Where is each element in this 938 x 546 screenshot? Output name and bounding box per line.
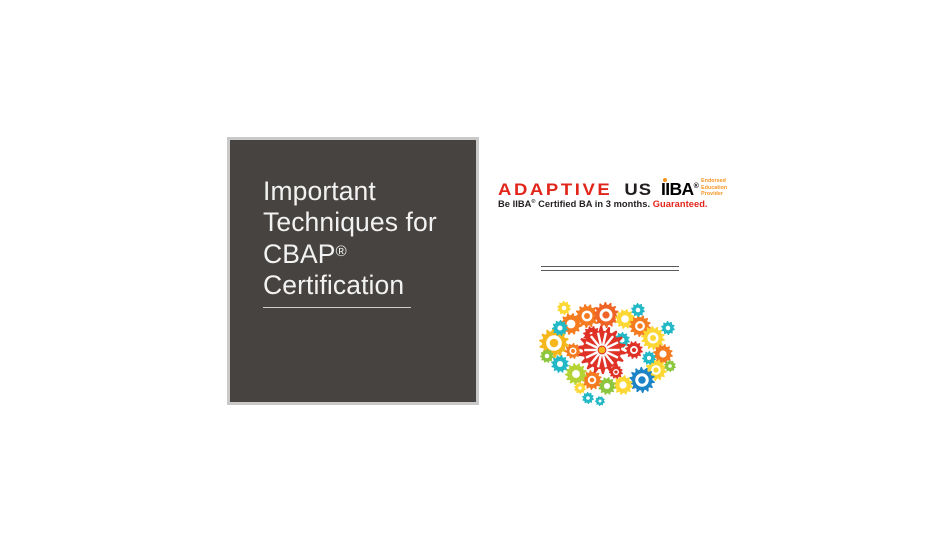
tagline-part-2: Certified BA in 3 months. bbox=[536, 199, 653, 209]
title-underline-rule bbox=[263, 307, 411, 308]
iiba-wordmark: IIBA® bbox=[661, 177, 698, 199]
title-box-fill: Important Techniques for CBAP® Certifica… bbox=[230, 140, 476, 402]
logo-tagline: Be IIBA® Certified BA in 3 months. Guara… bbox=[498, 199, 708, 209]
double-horizontal-rule bbox=[541, 266, 679, 271]
title-box: Important Techniques for CBAP® Certifica… bbox=[227, 137, 479, 405]
title-line-2: Techniques for bbox=[263, 207, 437, 237]
title-line-3: CBAP bbox=[263, 239, 336, 269]
logo-us-word: US bbox=[624, 181, 652, 198]
tagline-part-1: Be IIBA bbox=[498, 199, 531, 209]
brain-gears-image bbox=[530, 288, 686, 408]
logo-wordmark-row: ADAPTIVE US bbox=[498, 178, 652, 198]
iiba-letters: IIBA bbox=[661, 179, 694, 199]
iiba-dot-icon bbox=[663, 178, 667, 182]
page-title: Important Techniques for CBAP® Certifica… bbox=[263, 176, 453, 300]
eep-line-2: Education bbox=[701, 185, 727, 191]
title-line-1: Important bbox=[263, 176, 376, 206]
eep-line-1: Endorsed bbox=[701, 178, 726, 184]
tagline-guaranteed: Guaranteed. bbox=[653, 199, 708, 209]
logo-adaptive-word: ADAPTIVE bbox=[498, 181, 612, 198]
rule-line-top bbox=[541, 266, 679, 267]
title-line-4: Certification bbox=[263, 270, 404, 300]
rule-line-bottom bbox=[541, 270, 679, 271]
eep-line-3: Provider bbox=[701, 191, 723, 197]
endorsed-education-provider-text: Endorsed Education Provider bbox=[701, 178, 727, 198]
iiba-endorsed-badge: IIBA® Endorsed Education Provider bbox=[661, 177, 727, 199]
adaptive-us-logo: ADAPTIVE US IIBA® Endorsed Education Pro… bbox=[498, 178, 730, 214]
slide-canvas: Important Techniques for CBAP® Certifica… bbox=[0, 0, 938, 546]
iiba-registered-icon: ® bbox=[694, 183, 699, 190]
registered-trademark-icon: ® bbox=[336, 243, 347, 260]
